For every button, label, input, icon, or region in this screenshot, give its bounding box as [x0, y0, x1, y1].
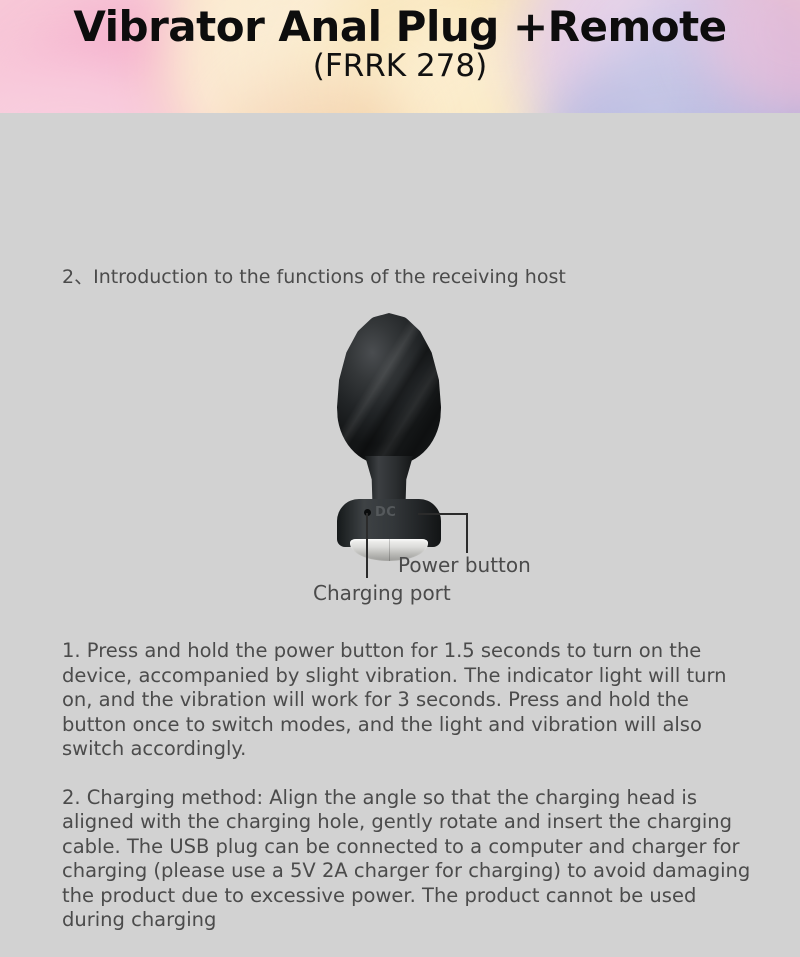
instruction-paragraph-1: 1. Press and hold the power button for 1… [62, 639, 752, 762]
content-area: 2、Introduction to the functions of the r… [0, 113, 800, 800]
instructions-list: 1. Press and hold the power button for 1… [62, 639, 752, 957]
charging-port-leader-vertical [366, 513, 368, 578]
power-button-leader-vertical [466, 513, 468, 553]
product-manual-page: Vibrator Anal Plug +Remote (FRRK 278) 2、… [0, 0, 800, 800]
dc-marking-label: DC [375, 505, 396, 520]
plug-bulb-shape [337, 313, 441, 465]
page-title: Vibrator Anal Plug +Remote [73, 2, 726, 52]
power-button-leader-horizontal [418, 513, 468, 515]
model-number: (FRRK 278) [313, 50, 487, 83]
product-illustration: DC [315, 313, 495, 563]
power-button-callout-label: Power button [398, 553, 531, 577]
title-block: Vibrator Anal Plug +Remote (FRRK 278) [0, 0, 800, 113]
section-heading: 2、Introduction to the functions of the r… [62, 262, 566, 289]
header-banner: Vibrator Anal Plug +Remote (FRRK 278) [0, 0, 800, 113]
charging-port-callout-label: Charging port [313, 581, 451, 605]
instruction-paragraph-2: 2. Charging method: Align the angle so t… [62, 786, 752, 933]
